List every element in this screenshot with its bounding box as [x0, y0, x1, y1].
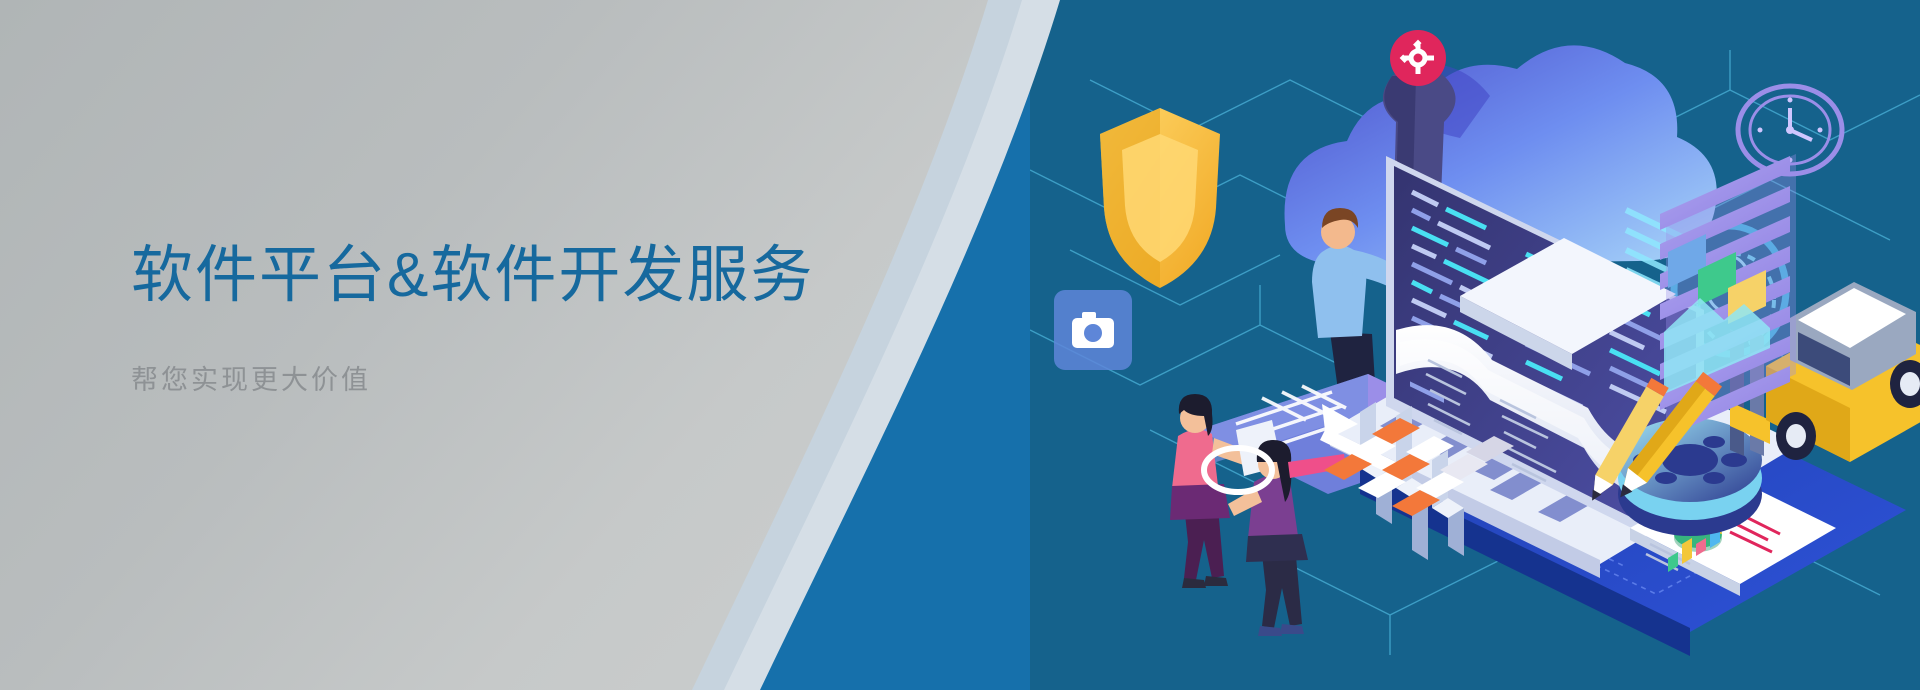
copy-block: 软件平台&软件开发服务 帮您实现更大价值 — [131, 240, 951, 397]
page-title: 软件平台&软件开发服务 — [131, 240, 951, 312]
page-subtitle: 帮您实现更大价值 — [131, 358, 951, 397]
banner-stage: 软件平台&软件开发服务 帮您实现更大价值 — [0, 0, 1920, 690]
